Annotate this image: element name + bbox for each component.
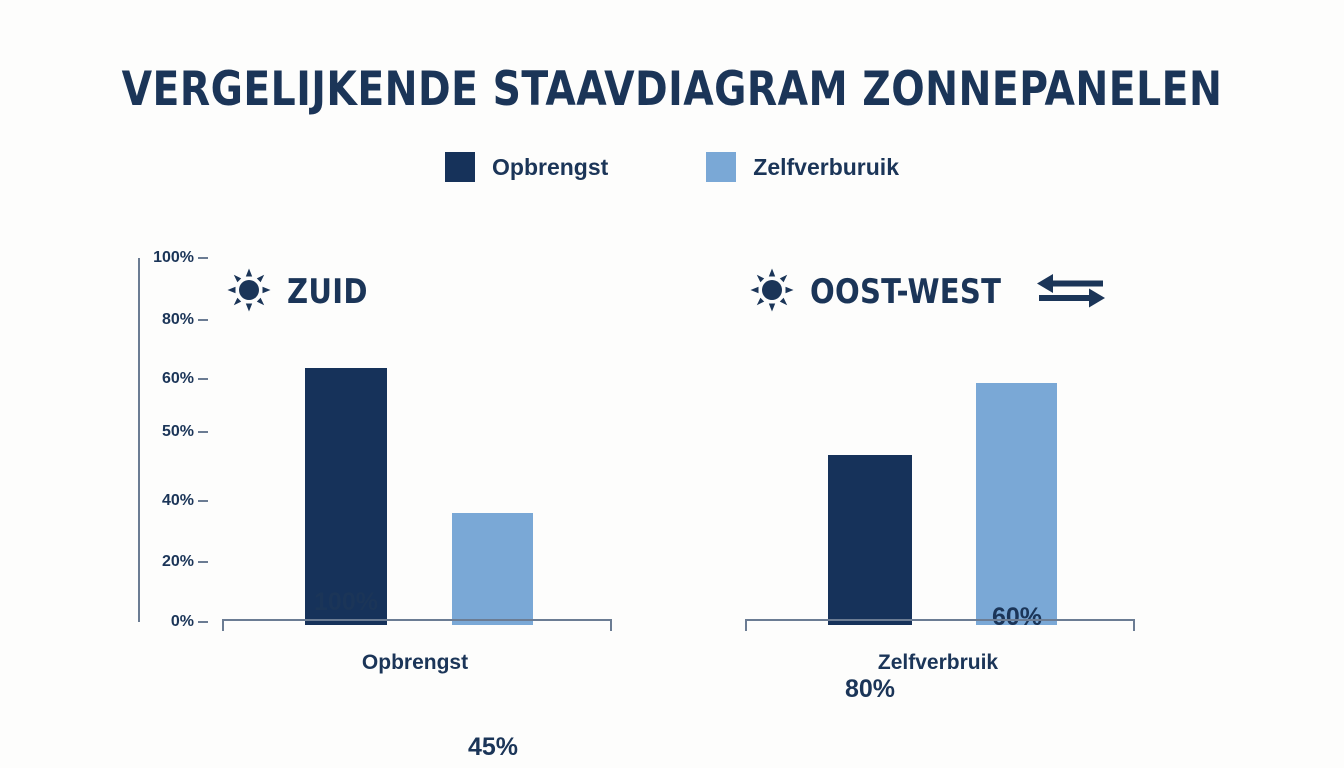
bar-oostwest-zelfverbruik[interactable]	[976, 383, 1057, 625]
legend-item-opbrengst[interactable]: Opbrengst	[445, 152, 608, 182]
y-tick-label-80: 80%	[162, 311, 194, 329]
chart-panel-zuid: ZUID 100% 45% Opbrengst	[205, 255, 625, 675]
bar-value-zuid-zelfverbruik: 45%	[468, 733, 518, 762]
plot-area-zuid: 100% 45% Opbrengst	[205, 255, 625, 675]
bar-oostwest-opbrengst[interactable]	[828, 455, 912, 625]
chart-panel-oostwest: OOST-WEST 80% 60% Zelfverbru	[728, 255, 1148, 675]
legend-swatch-zelfverbruik	[706, 152, 736, 182]
bar-zuid-zelfverbruik[interactable]	[452, 513, 533, 625]
y-tick-label-0: 0%	[171, 613, 194, 631]
y-tick-label-100: 100%	[153, 249, 194, 267]
legend-label-zelfverbruik: Zelfverburuik	[753, 154, 899, 181]
legend-item-zelfverbruik[interactable]: Zelfverburuik	[706, 152, 899, 182]
bar-zuid-opbrengst[interactable]	[305, 368, 387, 625]
x-axis-baseline-zuid	[222, 619, 612, 631]
page-title: VERGELIJKENDE STAAVDIAGRAM ZONNEPANELEN	[47, 62, 1297, 117]
x-axis-label-oostwest: Zelfverbruik	[728, 651, 1148, 675]
bar-value-zuid-opbrengst: 100%	[314, 588, 378, 617]
y-tick-label-50: 50%	[162, 423, 194, 441]
legend-label-opbrengst: Opbrengst	[492, 154, 608, 181]
plot-area-oostwest: 80% 60% Zelfverbruik	[728, 255, 1148, 675]
bar-value-oostwest-opbrengst: 80%	[845, 675, 895, 704]
chart-canvas: VERGELIJKENDE STAAVDIAGRAM ZONNEPANELEN …	[0, 0, 1344, 768]
y-tick-label-60: 60%	[162, 370, 194, 388]
y-axis-line	[138, 258, 140, 622]
y-tick-label-40: 40%	[162, 492, 194, 510]
chart-legend: Opbrengst Zelfverburuik	[0, 152, 1344, 182]
legend-swatch-opbrengst	[445, 152, 475, 182]
x-axis-label-zuid: Opbrengst	[205, 651, 625, 675]
y-tick-label-20: 20%	[162, 553, 194, 571]
x-axis-baseline-oostwest	[745, 619, 1135, 631]
